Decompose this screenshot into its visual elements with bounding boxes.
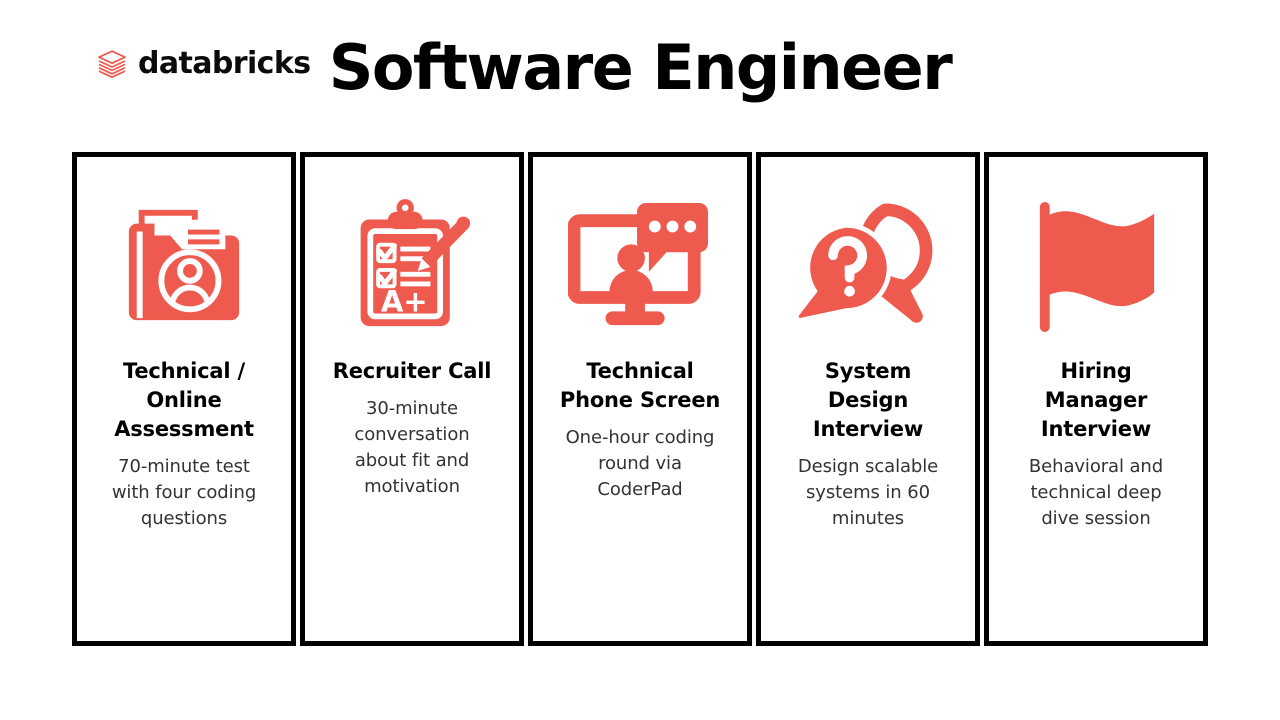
process-card[interactable]: A+ Recruiter Call 30-minute conversation… — [300, 152, 524, 646]
two-speech-bubbles-with-question-mark-icon — [775, 191, 961, 341]
card-description: One-hour coding round via CoderPad — [556, 425, 724, 503]
process-card[interactable]: Hiring Manager Interview Behavioral and … — [984, 152, 1208, 646]
card-heading: Hiring Manager Interview — [1011, 357, 1181, 444]
card-description: Design scalable systems in 60 minutes — [784, 454, 952, 532]
card-description: 70-minute test with four coding question… — [100, 454, 268, 532]
card-description: 30-minute conversation about fit and mot… — [328, 396, 496, 500]
page-title: Software Engineer — [0, 34, 1280, 102]
header: databricks Software Engineer — [0, 0, 1280, 150]
process-card[interactable]: System Design Interview Design scalable … — [756, 152, 980, 646]
clipboard-checklist-with-pencil-icon: A+ — [319, 191, 505, 341]
process-card[interactable]: Technical Phone Screen One-hour coding r… — [528, 152, 752, 646]
folder-with-documents-and-person-icon — [91, 191, 277, 341]
card-heading: Technical Phone Screen — [555, 357, 725, 415]
process-card-row: Technical / Online Assessment 70-minute … — [72, 152, 1208, 646]
process-card[interactable]: Technical / Online Assessment 70-minute … — [72, 152, 296, 646]
slide-canvas: databricks Software Engineer — [0, 0, 1280, 720]
svg-text:A+: A+ — [381, 285, 428, 319]
waving-flag-icon — [1003, 191, 1189, 341]
monitor-video-call-with-speech-bubble-icon — [547, 191, 733, 341]
card-heading: Technical / Online Assessment — [99, 357, 269, 444]
card-heading: System Design Interview — [783, 357, 953, 444]
card-heading: Recruiter Call — [333, 357, 492, 386]
card-description: Behavioral and technical deep dive sessi… — [1012, 454, 1180, 532]
